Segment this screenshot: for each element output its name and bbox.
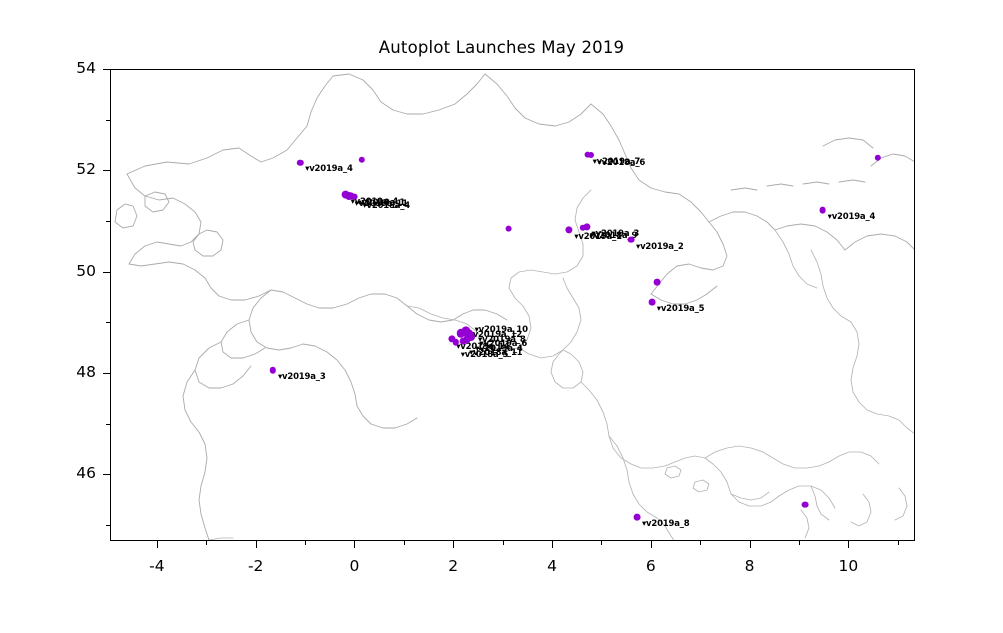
data-point[interactable] (801, 501, 808, 508)
data-point[interactable] (628, 236, 635, 243)
x-major-tick (651, 541, 652, 548)
map-axes[interactable] (110, 69, 915, 541)
data-point[interactable] (634, 514, 641, 521)
page-title: Autoplot Launches May 2019 (0, 38, 1003, 57)
y-minor-tick (106, 525, 110, 526)
data-point[interactable] (351, 193, 358, 200)
x-minor-tick (898, 541, 899, 545)
data-point[interactable] (819, 206, 826, 213)
x-minor-tick (305, 541, 306, 545)
x-minor-tick (503, 541, 504, 545)
y-major-tick (103, 272, 110, 273)
coastline-map (111, 70, 915, 541)
x-minor-tick (206, 541, 207, 545)
data-point[interactable] (588, 152, 594, 158)
y-tick-label: 54 (58, 59, 96, 77)
data-point-label: ▾v2019a_5 (657, 305, 705, 314)
data-point[interactable] (505, 225, 512, 232)
x-tick-label: -4 (127, 557, 187, 575)
data-point[interactable] (648, 299, 655, 306)
data-point-label: ▾v2019a_8 (642, 520, 690, 529)
data-point-label: ▾v2019a_10 (475, 326, 528, 335)
x-tick-label: -2 (226, 557, 286, 575)
x-minor-tick (799, 541, 800, 545)
x-major-tick (848, 541, 849, 548)
y-minor-tick (106, 424, 110, 425)
y-major-tick (103, 474, 110, 475)
data-point-label: ▾v2019a_3 (278, 373, 326, 382)
x-major-tick (354, 541, 355, 548)
x-major-tick (552, 541, 553, 548)
x-tick-label: 0 (324, 557, 384, 575)
x-minor-tick (404, 541, 405, 545)
data-point-label: ▾v2019a_4 (305, 165, 353, 174)
data-point-label: ▾v2018a_6 (598, 159, 646, 168)
y-tick-label: 46 (58, 464, 96, 482)
y-minor-tick (106, 322, 110, 323)
x-major-tick (256, 541, 257, 548)
x-minor-tick (601, 541, 602, 545)
y-major-tick (103, 373, 110, 374)
x-tick-label: 6 (621, 557, 681, 575)
y-tick-label: 52 (58, 160, 96, 178)
x-major-tick (750, 541, 751, 548)
x-tick-label: 4 (522, 557, 582, 575)
data-point-label: ▾v2019a_4 (828, 213, 876, 222)
data-point[interactable] (654, 278, 661, 285)
y-major-tick (103, 170, 110, 171)
data-point-label: ▾v2018a_4 (362, 202, 410, 211)
y-tick-label: 48 (58, 363, 96, 381)
data-point-label: ▾v2019a_2 (636, 243, 684, 252)
x-tick-label: 8 (720, 557, 780, 575)
figure-canvas: Autoplot Launches May 2019 (0, 0, 1003, 633)
x-major-tick (453, 541, 454, 548)
data-point[interactable] (460, 338, 467, 345)
y-minor-tick (106, 221, 110, 222)
x-tick-label: 10 (818, 557, 878, 575)
y-tick-label: 50 (58, 262, 96, 280)
y-minor-tick (106, 120, 110, 121)
x-major-tick (157, 541, 158, 548)
x-tick-label: 2 (423, 557, 483, 575)
data-point-label: ▾v2018a_5 (461, 351, 509, 360)
y-major-tick (103, 69, 110, 70)
x-minor-tick (700, 541, 701, 545)
